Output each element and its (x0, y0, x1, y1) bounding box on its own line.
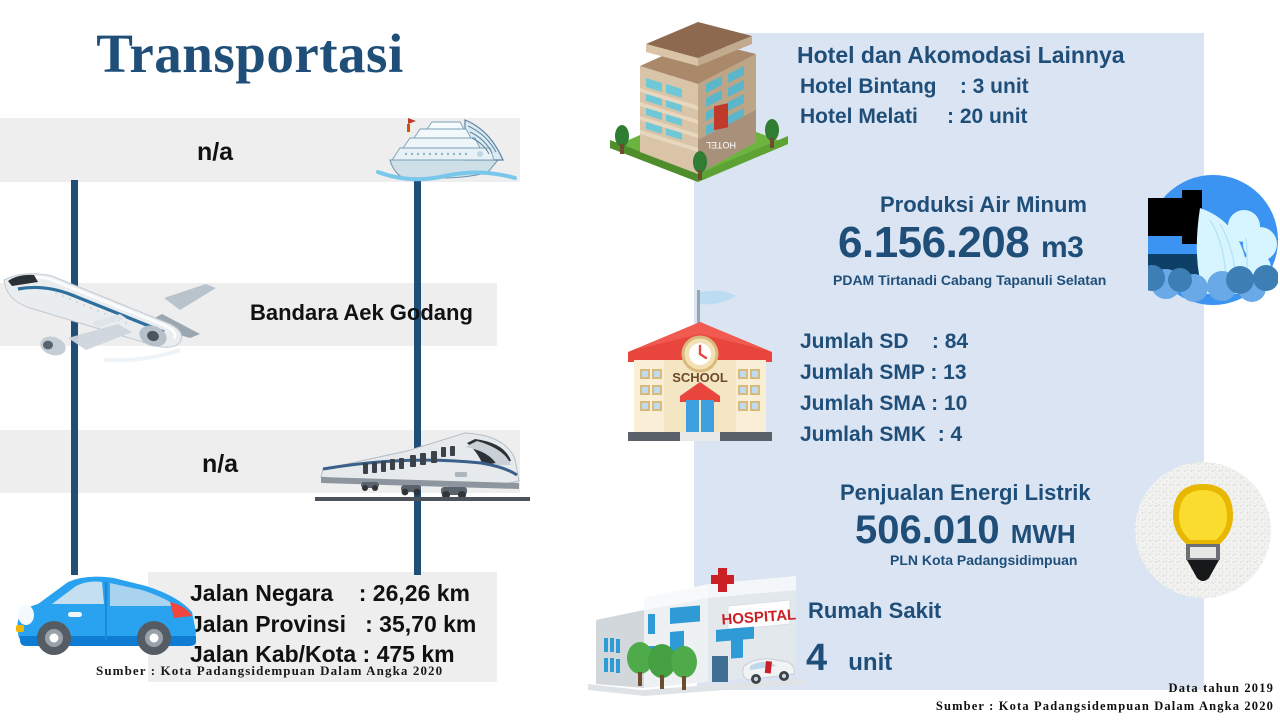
water-heading: Produksi Air Minum (880, 192, 1087, 218)
electricity-value: 506.010 (855, 508, 1000, 552)
water-value-block: 6.156.208 m3 (838, 218, 1083, 268)
airplane-icon (0, 262, 254, 372)
road-info-block: Jalan Negara : 26,26 km Jalan Provinsi :… (190, 578, 476, 670)
water-source: PDAM Tirtanadi Cabang Tapanuli Selatan (833, 272, 1106, 288)
water-unit: m3 (1041, 231, 1083, 264)
car-icon (6, 570, 206, 665)
hotel-building-icon: HOTEL (602, 22, 794, 187)
hospital-heading: Rumah Sakit (808, 598, 941, 624)
road-source-note: Sumber : Kota Padangsidempuan Dalam Angk… (96, 663, 443, 679)
footer-line-2: Sumber : Kota Padangsidempuan Dalam Angk… (936, 697, 1274, 716)
footer-note: Data tahun 2019 Sumber : Kota Padangside… (936, 679, 1274, 717)
infographic-root: Transportasi n/a Bandara Aek Godang n/a … (0, 0, 1280, 720)
footer-line-1: Data tahun 2019 (936, 679, 1274, 698)
hotel-row: Hotel Bintang : 3 unit (800, 72, 1029, 102)
education-row: Jumlah SD : 84 (800, 327, 968, 358)
education-row: Jumlah SMP : 13 (800, 358, 968, 389)
svg-text:HOTEL: HOTEL (706, 140, 736, 150)
education-row: Jumlah SMA : 10 (800, 389, 968, 420)
train-icon (315, 425, 530, 505)
transportation-column: Transportasi n/a Bandara Aek Godang n/a … (0, 0, 560, 720)
education-stats: Jumlah SD : 84 Jumlah SMP : 13 Jumlah SM… (800, 327, 968, 450)
airport-label: Bandara Aek Godang (250, 300, 473, 326)
electricity-heading: Penjualan Energi Listrik (840, 480, 1091, 506)
school-building-icon: SCHOOL (610, 278, 790, 453)
education-row: Jumlah SMK : 4 (800, 420, 968, 451)
hotel-heading: Hotel dan Akomodasi Lainnya (797, 42, 1125, 69)
hospital-building-icon: HOSPITAL (578, 562, 813, 697)
water-value: 6.156.208 (838, 218, 1029, 267)
lightbulb-icon (1134, 462, 1272, 598)
electricity-source: PLN Kota Padangsidimpuan (890, 552, 1077, 568)
page-title: Transportasi (0, 22, 500, 85)
electricity-value-block: 506.010 MWH (855, 508, 1076, 553)
hospital-value: 4 (806, 637, 827, 679)
hospital-unit: unit (848, 649, 892, 676)
cruise-ship-icon (370, 108, 520, 188)
hotel-stats: Hotel Bintang : 3 unit Hotel Melati : 20… (800, 72, 1029, 133)
road-row: Jalan Provinsi : 35,70 km (190, 609, 476, 640)
electricity-unit: MWH (1011, 519, 1076, 549)
hotel-row: Hotel Melati : 20 unit (800, 102, 1029, 132)
ship-label: n/a (0, 138, 430, 167)
road-row: Jalan Negara : 26,26 km (190, 578, 476, 609)
connector-line-left (71, 180, 78, 575)
connector-line-right (414, 180, 421, 575)
hospital-value-block: 4 unit (806, 637, 892, 680)
water-pipe-icon (1148, 168, 1278, 313)
